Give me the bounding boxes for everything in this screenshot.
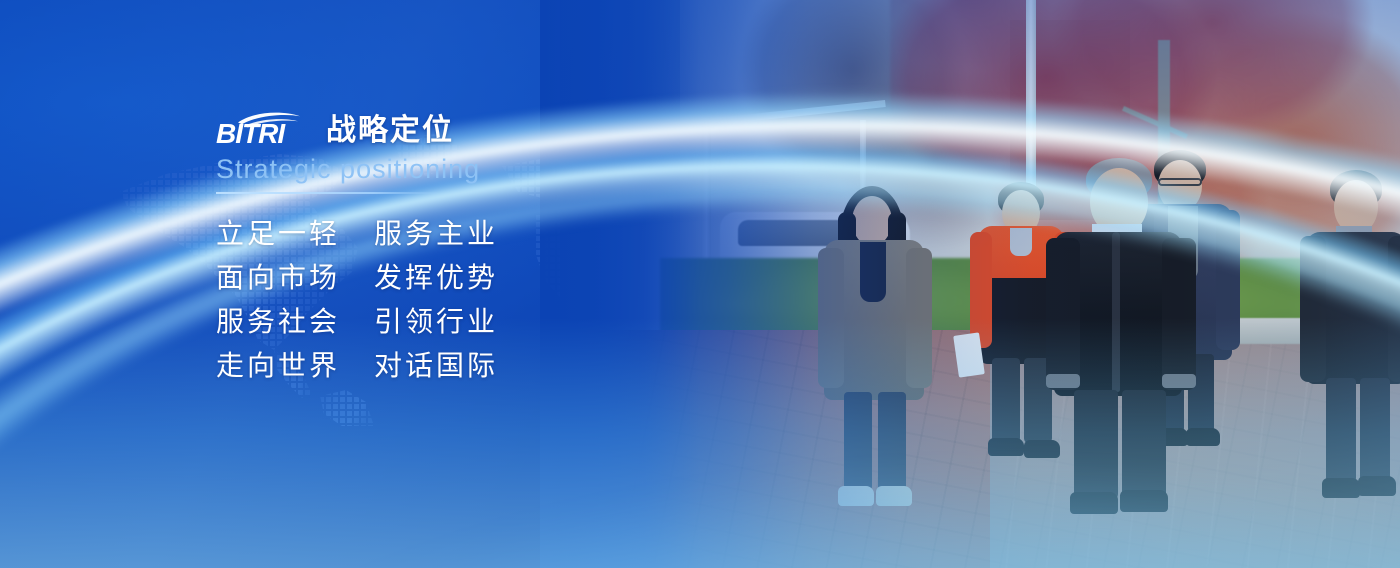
photo-person-man-dark-jacket-right xyxy=(1300,170,1400,520)
slogan-list: 立足一轻 服务主业 面向市场 发挥优势 服务社会 引领行业 走向世界 对话国际 xyxy=(216,212,736,388)
banner-content: BITRI 战略定位 Strategic positioning 立足一轻 服务… xyxy=(216,104,736,388)
slogan-right: 发挥优势 xyxy=(374,256,498,300)
slogan-right: 对话国际 xyxy=(374,344,498,388)
title-underline-rule xyxy=(216,192,440,194)
banner-title-cn: 战略定位 xyxy=(326,114,454,148)
slogan-row: 服务社会 引领行业 xyxy=(216,300,736,344)
banner-subtitle-en: Strategic positioning xyxy=(216,152,736,186)
bitri-logo-text: BITRI xyxy=(216,118,286,148)
slogan-left: 面向市场 xyxy=(216,256,342,300)
slogan-row: 立足一轻 服务主业 xyxy=(216,212,736,256)
slogan-right: 引领行业 xyxy=(374,300,498,344)
slogan-left: 走向世界 xyxy=(216,344,342,388)
title-row: BITRI 战略定位 xyxy=(216,104,736,148)
slogan-right: 服务主业 xyxy=(374,212,498,256)
slogan-row: 走向世界 对话国际 xyxy=(216,344,736,388)
strategic-positioning-banner: BITRI 战略定位 Strategic positioning 立足一轻 服务… xyxy=(0,0,1400,568)
slogan-row: 面向市场 发挥优势 xyxy=(216,256,736,300)
slogan-left: 服务社会 xyxy=(216,300,342,344)
photo-person-woman-taupe-jacket xyxy=(810,186,940,516)
photo-person-man-black-jacket-lead xyxy=(1046,158,1196,520)
slogan-left: 立足一轻 xyxy=(216,212,342,256)
bitri-logo: BITRI xyxy=(216,108,312,148)
